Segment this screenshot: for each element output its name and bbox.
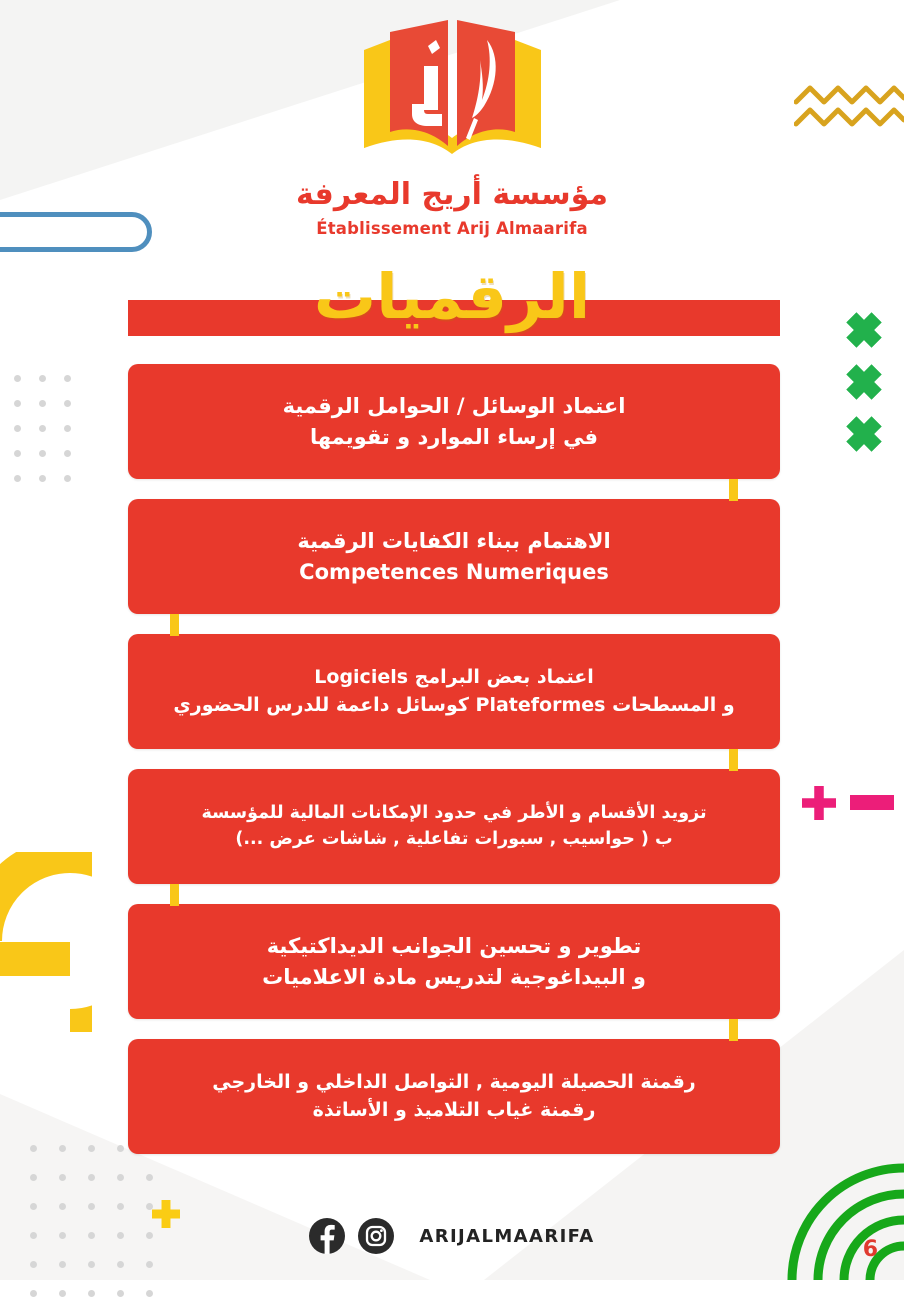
content-line: و البيداغوجية لتدريس مادة الاعلاميات [262, 962, 646, 992]
page-title-zone: الرقميات [0, 264, 904, 356]
content-line: و المسطحات Plateformes كوسائل داعمة للدر… [173, 692, 734, 720]
content-row: اعتماد الوسائل / الحوامل الرقمية في إرسا… [0, 364, 904, 499]
content-line: الاهتمام ببناء الكفايات الرقمية [297, 526, 610, 556]
content-line: اعتماد بعض البرامج Logiciels [314, 664, 593, 692]
content-box-list: اعتماد الوسائل / الحوامل الرقمية في إرسا… [0, 364, 904, 1174]
content-box[interactable]: اعتماد بعض البرامج Logiciels و المسطحات … [128, 634, 780, 749]
connector-left [170, 614, 179, 636]
instagram-icon[interactable] [358, 1218, 394, 1254]
connector-right [729, 479, 738, 501]
content-line: تطوير و تحسين الجوانب الديداكتيكية [267, 931, 642, 961]
content-box[interactable]: الاهتمام ببناء الكفايات الرقمية Competen… [128, 499, 780, 614]
content-row: تزويد الأقسام و الأطر في حدود الإمكانات … [0, 769, 904, 904]
content-row: تطوير و تحسين الجوانب الديداكتيكية و الب… [0, 904, 904, 1039]
content-line: اعتماد الوسائل / الحوامل الرقمية [283, 391, 626, 421]
brand-name-arabic: مؤسسة أريج المعرفة [296, 180, 608, 210]
facebook-icon[interactable] [309, 1218, 345, 1254]
content-line: رقمنة غياب التلاميذ و الأساتذة [313, 1097, 596, 1125]
connector-left [170, 884, 179, 906]
content-box[interactable]: رقمنة الحصيلة اليومية , التواصل الداخلي … [128, 1039, 780, 1154]
connector-right [729, 749, 738, 771]
social-handle: ARIJALMAARIFA [419, 1226, 594, 1247]
content-row: اعتماد بعض البرامج Logiciels و المسطحات … [0, 634, 904, 769]
content-line: Competences Numeriques [299, 557, 609, 587]
content-line: ب ( حواسيب , سبورات تفاعلية , شاشات عرض … [235, 827, 672, 852]
content-box[interactable]: اعتماد الوسائل / الحوامل الرقمية في إرسا… [128, 364, 780, 479]
content-line: في إرساء الموارد و تقويمها [310, 422, 598, 452]
social-footer: ARIJALMAARIFA [0, 1218, 904, 1254]
open-book-feather-logo-icon [350, 14, 555, 166]
brand-header: مؤسسة أريج المعرفة Établissement Arij Al… [0, 0, 904, 238]
content-box[interactable]: تطوير و تحسين الجوانب الديداكتيكية و الب… [128, 904, 780, 1019]
content-row: الاهتمام ببناء الكفايات الرقمية Competen… [0, 499, 904, 634]
content-row: رقمنة الحصيلة اليومية , التواصل الداخلي … [0, 1039, 904, 1174]
content-box[interactable]: تزويد الأقسام و الأطر في حدود الإمكانات … [128, 769, 780, 884]
page-title: الرقميات [0, 264, 904, 329]
connector-right [729, 1019, 738, 1041]
content-line: رقمنة الحصيلة اليومية , التواصل الداخلي … [212, 1069, 695, 1097]
content-line: تزويد الأقسام و الأطر في حدود الإمكانات … [201, 801, 706, 826]
brand-name-french: Établissement Arij Almaarifa [316, 219, 588, 238]
